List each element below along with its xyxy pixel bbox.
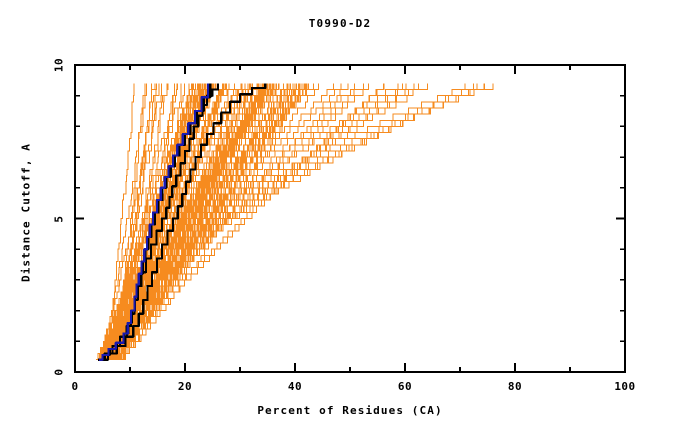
x-axis-label: Percent of Residues (CA)	[75, 404, 625, 417]
chart-page: T0990-D2 Distance Cutoff, A Percent of R…	[0, 0, 680, 440]
x-tick-label: 0	[71, 380, 78, 393]
x-tick-label: 60	[398, 380, 412, 393]
chart-plot-area	[0, 0, 680, 440]
x-tick-label: 20	[178, 380, 192, 393]
y-tick-label: 0	[53, 364, 66, 380]
x-tick-label: 80	[508, 380, 522, 393]
y-tick-label: 5	[53, 211, 66, 227]
x-tick-label: 100	[614, 380, 635, 393]
prediction-curve	[109, 83, 484, 359]
chart-canvas	[0, 0, 680, 440]
y-tick-label: 10	[53, 57, 66, 73]
y-axis-label: Distance Cutoff, A	[20, 113, 33, 313]
x-tick-label: 40	[288, 380, 302, 393]
